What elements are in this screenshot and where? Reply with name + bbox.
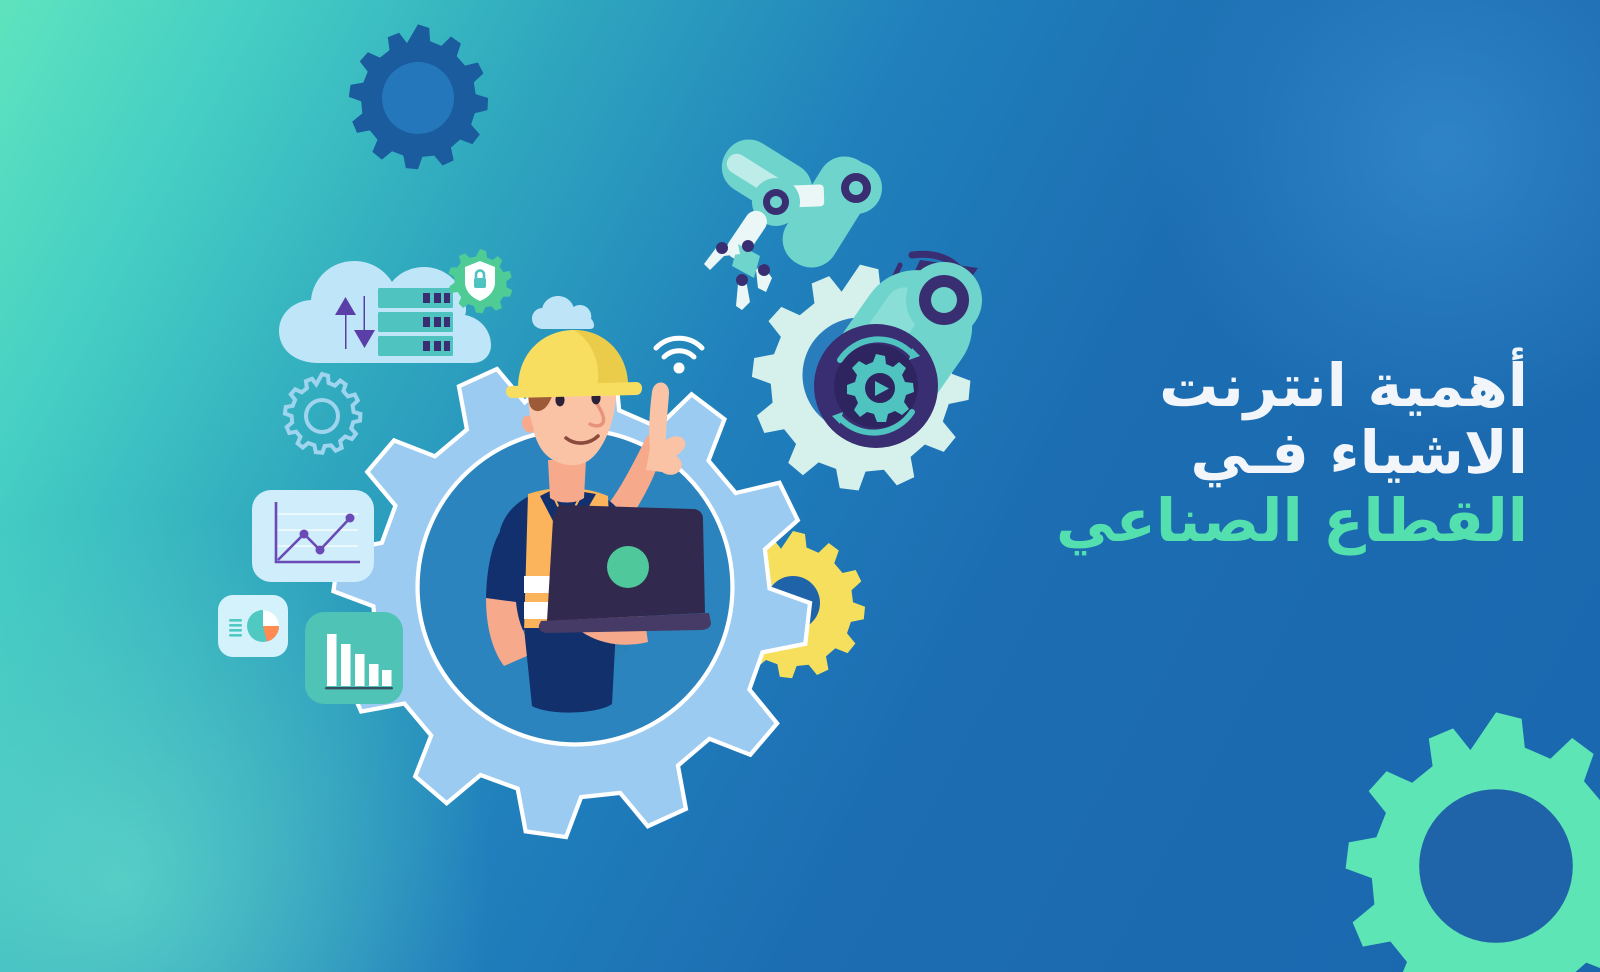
cloud-small-icon (532, 296, 594, 330)
bar-chart-card (305, 612, 403, 704)
sync-arrows-icon (332, 295, 380, 350)
line-chart-card (252, 490, 374, 582)
pie-chart-card (218, 595, 288, 657)
banner-canvas: أهمية انترنت الاشياء فـي القطاع الصناعي (0, 0, 1600, 972)
gear-bottom-right-icon (1336, 706, 1600, 972)
laptop-icon (533, 505, 708, 645)
headline-line-1: أهمية انترنت (908, 352, 1528, 419)
shield-lock-icon (448, 248, 512, 312)
gear-top-left-icon (338, 18, 498, 178)
headline-block: أهمية انترنت الاشياء فـي القطاع الصناعي (908, 352, 1528, 554)
headline-line-3: القطاع الصناعي (908, 487, 1528, 554)
headline-line-2: الاشياء فـي (908, 419, 1528, 486)
